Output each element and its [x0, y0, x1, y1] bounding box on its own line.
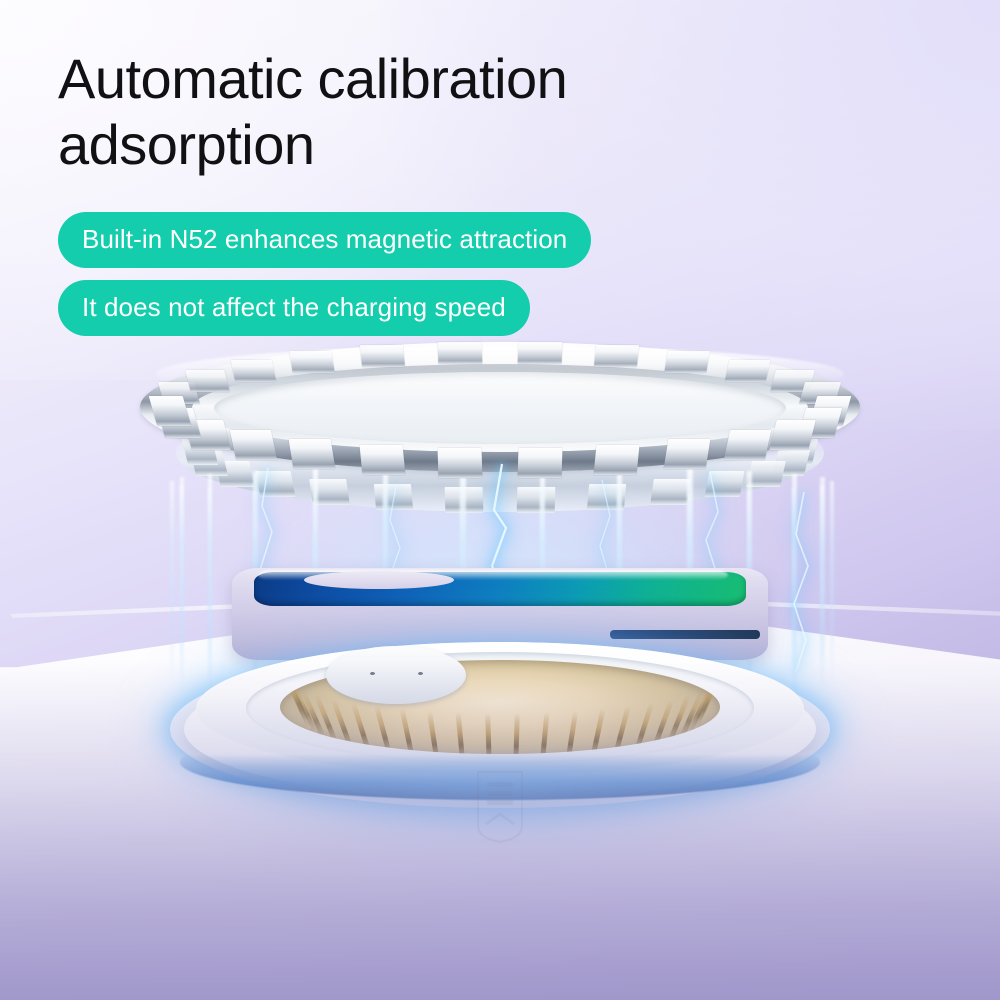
magnet-segment	[438, 448, 483, 478]
magnet-segment	[665, 351, 711, 373]
feature-badge-list: Built-in N52 enhances magnetic attractio…	[58, 212, 591, 348]
magnet-segment	[517, 448, 562, 478]
brand-watermark-icon	[470, 768, 530, 844]
page-title: Automatic calibration adsorption	[58, 46, 818, 177]
magnet-segment	[186, 370, 230, 392]
magnet-segment	[724, 360, 769, 382]
magnet-segment	[664, 439, 711, 469]
lightning-bolt-icon	[600, 480, 610, 580]
product-poster: Automatic calibration adsorption Built-i…	[0, 0, 1000, 1000]
magnet-segment	[229, 430, 276, 460]
magnet-segment	[360, 345, 406, 367]
feature-badge: It does not affect the charging speed	[58, 280, 530, 336]
magnet-segment	[594, 445, 640, 475]
magnet-segment	[360, 445, 406, 475]
magnet-segment	[289, 439, 336, 469]
magnet-segment	[438, 342, 483, 364]
feature-badge: Built-in N52 enhances magnetic attractio…	[58, 212, 591, 268]
phone-notch	[304, 571, 454, 589]
magnet-segment	[724, 430, 771, 460]
magnet-segment	[230, 360, 275, 382]
magnet-segment	[517, 342, 562, 364]
magnet-segment	[290, 351, 336, 373]
magnet-segment	[769, 420, 815, 450]
magnet-segment	[594, 345, 640, 367]
